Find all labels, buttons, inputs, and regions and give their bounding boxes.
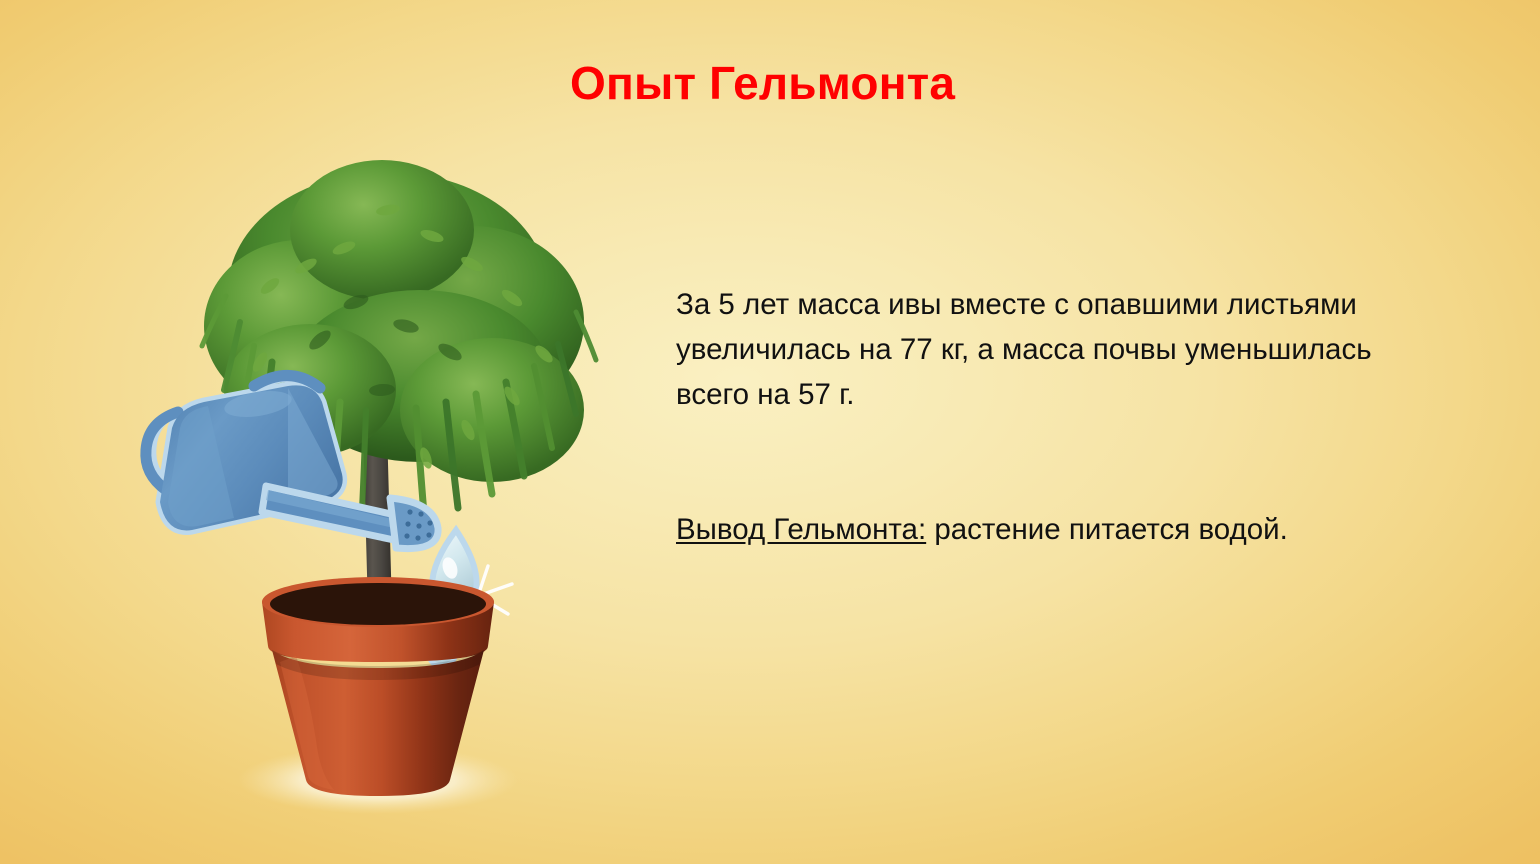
- slide: Опыт Гельмонта: [0, 0, 1540, 864]
- body-text-block: За 5 лет масса ивы вместе с опавшими лис…: [676, 282, 1376, 552]
- conclusion-text: растение питается водой.: [926, 513, 1288, 546]
- conclusion-paragraph: Вывод Гельмонта: растение питается водой…: [676, 507, 1376, 552]
- experiment-description-paragraph: За 5 лет масса ивы вместе с опавшими лис…: [676, 282, 1376, 417]
- potted-willow-tree-illustration: [120, 90, 640, 820]
- conclusion-label: Вывод Гельмонта:: [676, 513, 926, 546]
